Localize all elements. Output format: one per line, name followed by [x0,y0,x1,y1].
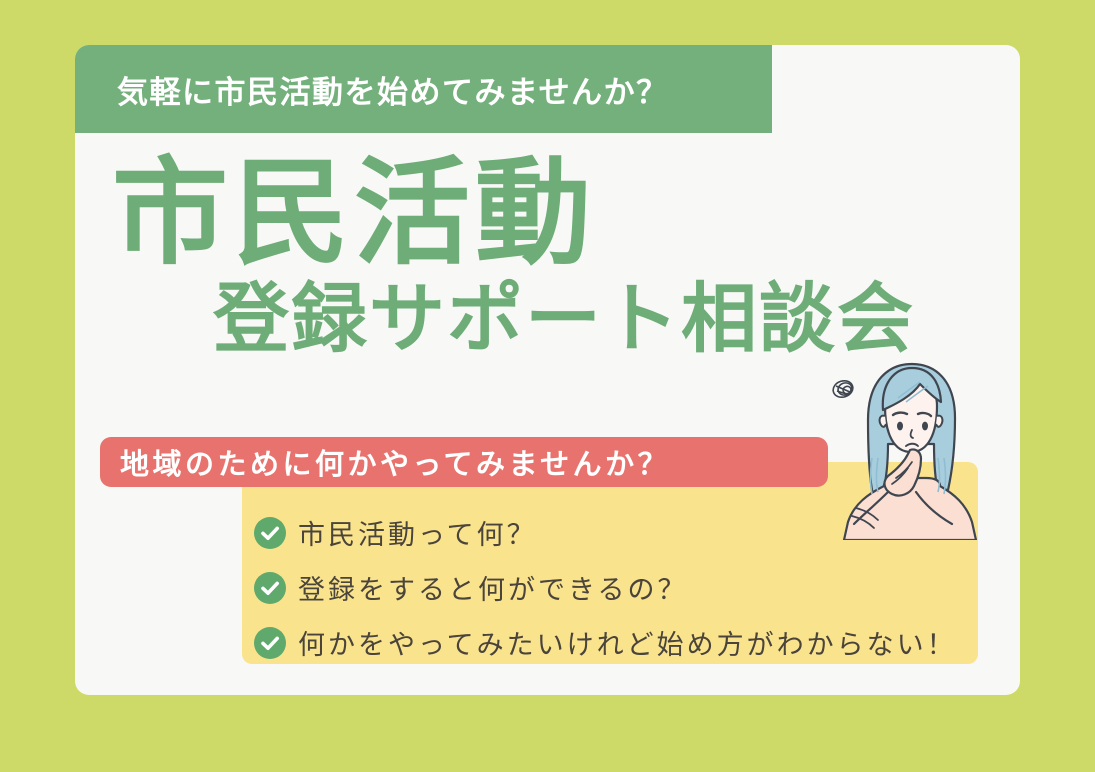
headline-sub: 登録サポート相談会 [213,282,915,358]
ear-left [880,416,886,427]
check-circle-icon [254,572,286,604]
lead-ribbon-text: 地域のために何かやってみませんか？ [120,441,670,483]
thought-scribble-icon [831,378,855,399]
thinking-woman-illustration [826,358,991,540]
poster-canvas: 気軽に市民活動を始めてみませんか？ 市民活動 登録サポート相談会 地域のために何… [0,0,1095,772]
kicker-text: 気軽に市民活動を始めてみませんか？ [117,67,669,112]
ear-right [936,416,942,427]
eye-right [922,422,928,431]
lead-ribbon: 地域のために何かやってみませんか？ [100,437,828,487]
list-item: 何かをやってみたいけれど始め方がわからない！ [254,615,974,670]
eye-left [897,422,903,431]
list-item-label: 何かをやってみたいけれど始め方がわからない！ [298,623,957,662]
list-item-label: 登録をすると何ができるの？ [298,568,687,607]
kicker-banner: 気軽に市民活動を始めてみませんか？ [75,45,772,133]
check-circle-icon [254,627,286,659]
list-item: 登録をすると何ができるの？ [254,560,974,615]
headline-main: 市民活動 [112,155,596,271]
list-item-label: 市民活動って何？ [298,513,537,552]
check-circle-icon [254,517,286,549]
